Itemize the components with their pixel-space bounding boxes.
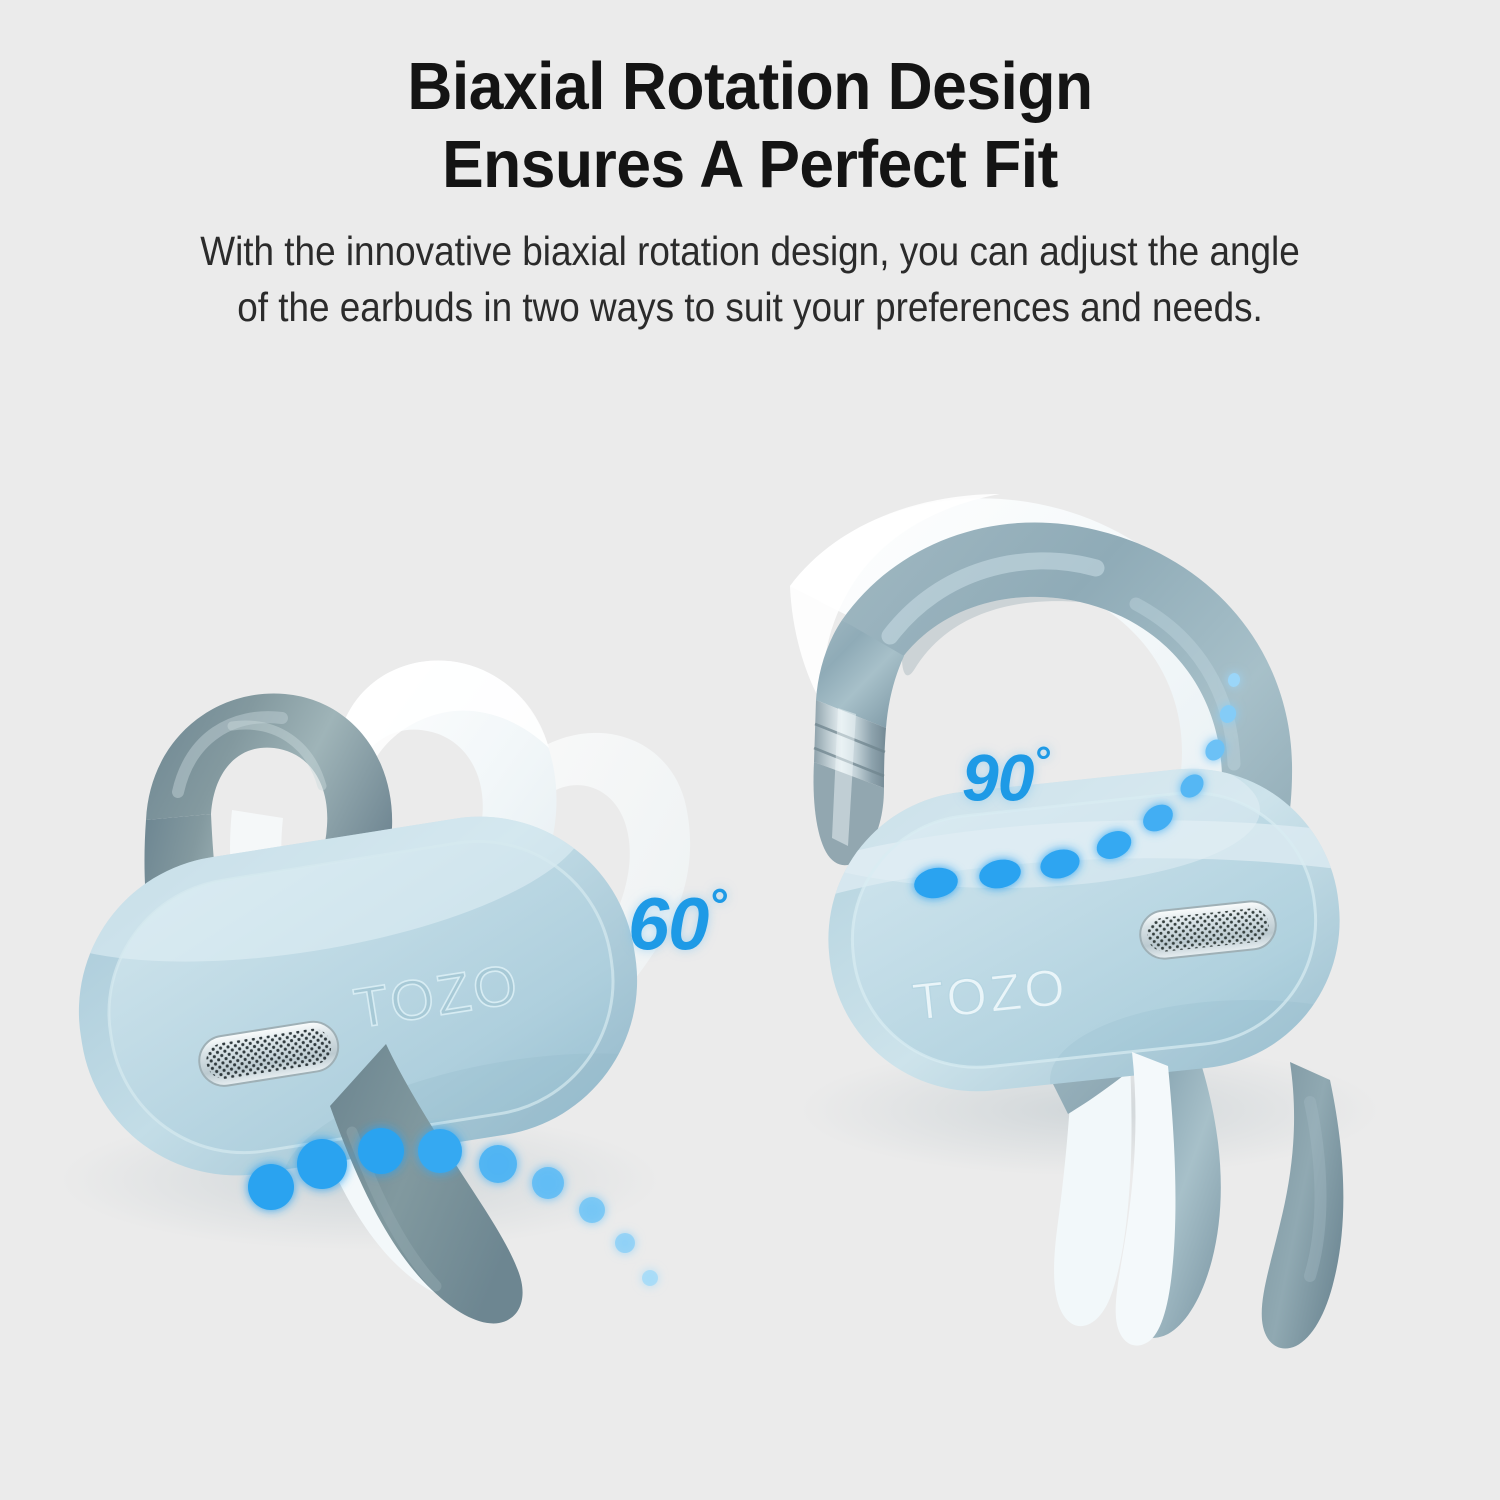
copy-block: Biaxial Rotation Design Ensures A Perfec… — [0, 0, 1500, 335]
angle-60-value: 60 — [628, 882, 708, 965]
left-earbud: TOZO — [0, 660, 771, 1323]
earbuds-svg: TOZO — [0, 390, 1500, 1450]
headline-line-1: Biaxial Rotation Design — [407, 49, 1092, 124]
angle-90-value: 90 — [962, 740, 1033, 814]
page-title: Biaxial Rotation Design Ensures A Perfec… — [53, 48, 1448, 205]
page-subtitle: With the innovative biaxial rotation des… — [75, 223, 1425, 335]
angle-label-60: 60° — [628, 878, 727, 966]
subtitle-line-1: With the innovative biaxial rotation des… — [75, 223, 1425, 279]
right-earbud: TOZO — [740, 494, 1450, 1348]
degree-symbol-icon: ° — [1033, 738, 1049, 784]
headline-line-2: Ensures A Perfect Fit — [53, 126, 1448, 204]
subtitle-line-2: of the earbuds in two ways to suit your … — [75, 279, 1425, 335]
angle-label-90: 90° — [962, 738, 1050, 815]
marketing-banner: Biaxial Rotation Design Ensures A Perfec… — [0, 0, 1500, 1500]
degree-symbol-icon: ° — [708, 879, 726, 931]
product-illustration: TOZO — [0, 390, 1500, 1450]
